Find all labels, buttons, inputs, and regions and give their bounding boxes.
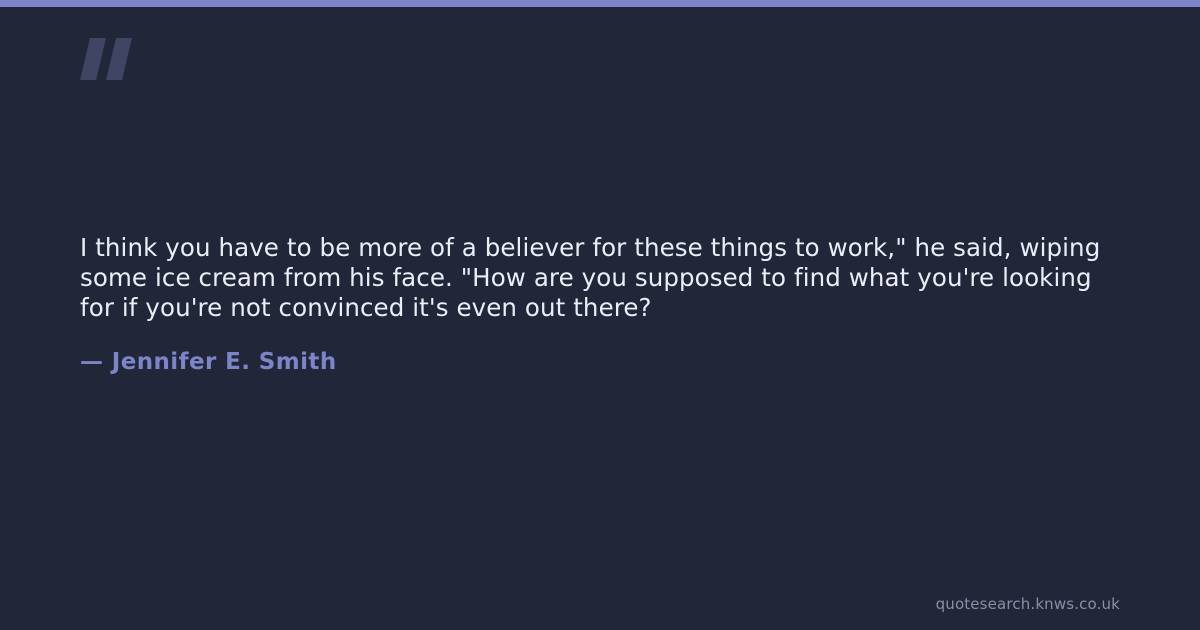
double-open-quote-glyph — [80, 38, 132, 80]
quote-author: — Jennifer E. Smith — [80, 347, 337, 377]
quote-card: I think you have to be more of a believe… — [0, 0, 1200, 630]
double-open-quote-icon — [80, 38, 132, 80]
site-watermark: quotesearch.knws.co.uk — [936, 594, 1120, 614]
top-accent-bar — [0, 0, 1200, 7]
quote-text: I think you have to be more of a believe… — [80, 233, 1110, 323]
